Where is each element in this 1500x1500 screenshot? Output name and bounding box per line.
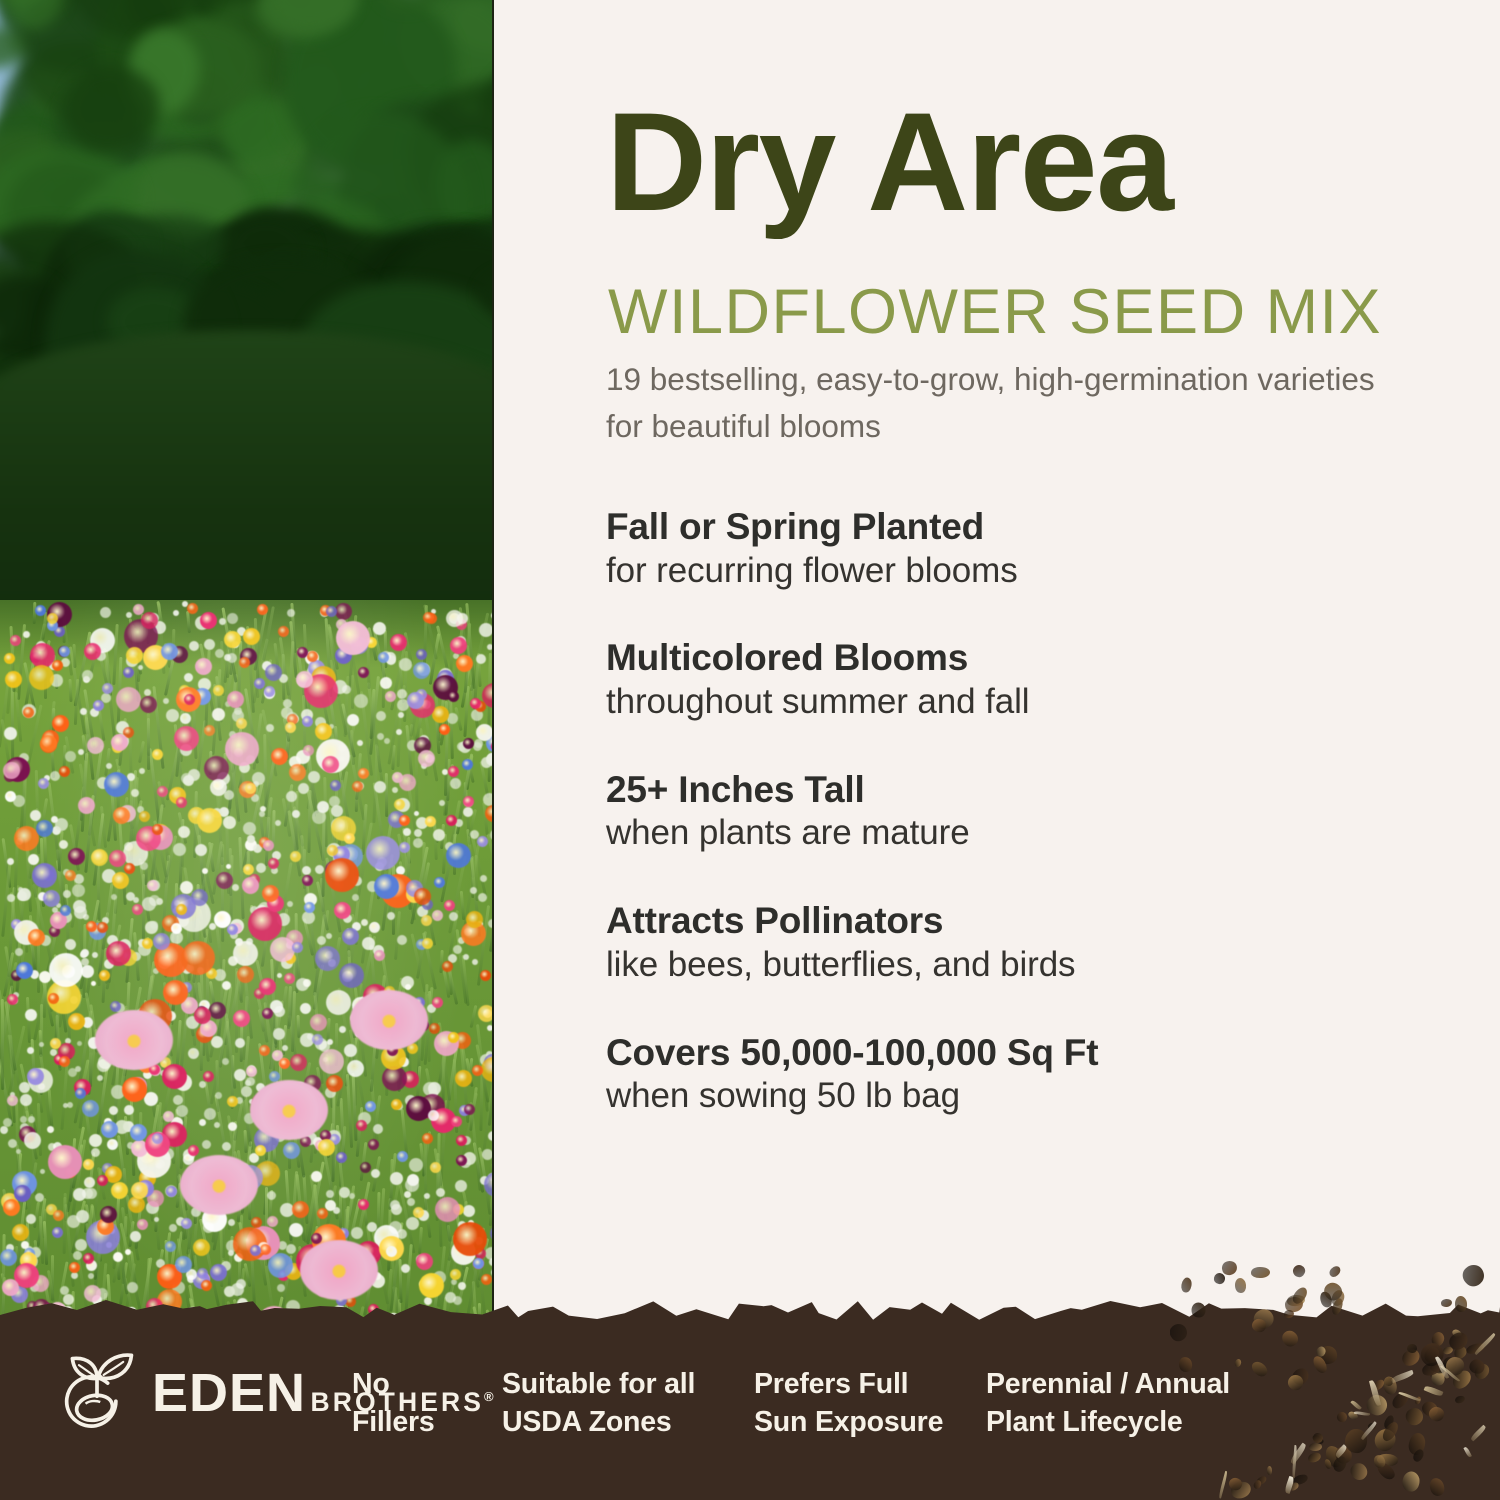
badge-line-2: USDA Zones bbox=[502, 1404, 754, 1442]
feature-item: Attracts Pollinators like bees, butterfl… bbox=[606, 899, 1426, 986]
badge-line-2: Plant Lifecycle bbox=[986, 1404, 1266, 1442]
logo-eden-text: EDEN bbox=[152, 1363, 306, 1423]
product-info-panel: Dry Area WILDFLOWER SEED MIX 19 bestsell… bbox=[496, 0, 1500, 1350]
feature-heading: Multicolored Blooms bbox=[606, 636, 1426, 680]
badge-no-fillers: No Fillers bbox=[352, 1366, 502, 1441]
footer-bar: EDEN BROTHERS® No Fillers Suitable for a… bbox=[0, 1328, 1500, 1500]
feature-detail: when sowing 50 lb bag bbox=[606, 1074, 1426, 1118]
badge-line-2: Fillers bbox=[352, 1404, 502, 1442]
torn-edge-svg bbox=[0, 1294, 1500, 1328]
feature-heading: 25+ Inches Tall bbox=[606, 768, 1426, 812]
badge-plant-lifecycle: Perennial / Annual Plant Lifecycle bbox=[986, 1366, 1266, 1441]
feature-heading: Attracts Pollinators bbox=[606, 899, 1426, 943]
feature-detail: when plants are mature bbox=[606, 811, 1426, 855]
badge-line-1: No bbox=[352, 1366, 502, 1404]
footer-badges: No Fillers Suitable for all USDA Zones P… bbox=[352, 1366, 1266, 1441]
badge-usda-zones: Suitable for all USDA Zones bbox=[502, 1366, 754, 1441]
badge-line-1: Prefers Full bbox=[754, 1366, 986, 1404]
feature-detail: throughout summer and fall bbox=[606, 680, 1426, 724]
feature-heading: Covers 50,000-100,000 Sq Ft bbox=[606, 1031, 1426, 1075]
feature-item: 25+ Inches Tall when plants are mature bbox=[606, 768, 1426, 855]
torn-edge bbox=[0, 1294, 1500, 1328]
product-subtitle: WILDFLOWER SEED MIX bbox=[608, 281, 1382, 344]
flower-meadow bbox=[0, 600, 494, 1350]
feature-detail: like bees, butterflies, and birds bbox=[606, 943, 1426, 987]
product-infographic: Dry Area WILDFLOWER SEED MIX 19 bestsell… bbox=[0, 0, 1500, 1500]
seedling-logo-icon bbox=[56, 1350, 138, 1436]
feature-item: Multicolored Blooms throughout summer an… bbox=[606, 636, 1426, 723]
badge-line-1: Suitable for all bbox=[502, 1366, 754, 1404]
wildflower-meadow-photo bbox=[0, 0, 494, 1350]
badge-line-2: Sun Exposure bbox=[754, 1404, 986, 1442]
badge-line-1: Perennial / Annual bbox=[986, 1366, 1266, 1404]
product-tagline: 19 bestselling, easy-to-grow, high-germi… bbox=[606, 356, 1406, 449]
feature-list: Fall or Spring Planted for recurring flo… bbox=[606, 505, 1426, 1118]
badge-sun-exposure: Prefers Full Sun Exposure bbox=[754, 1366, 986, 1441]
feature-heading: Fall or Spring Planted bbox=[606, 505, 1426, 549]
feature-item: Fall or Spring Planted for recurring flo… bbox=[606, 505, 1426, 592]
feature-detail: for recurring flower blooms bbox=[606, 549, 1426, 593]
product-title: Dry Area bbox=[606, 92, 1172, 232]
feature-item: Covers 50,000-100,000 Sq Ft when sowing … bbox=[606, 1031, 1426, 1118]
